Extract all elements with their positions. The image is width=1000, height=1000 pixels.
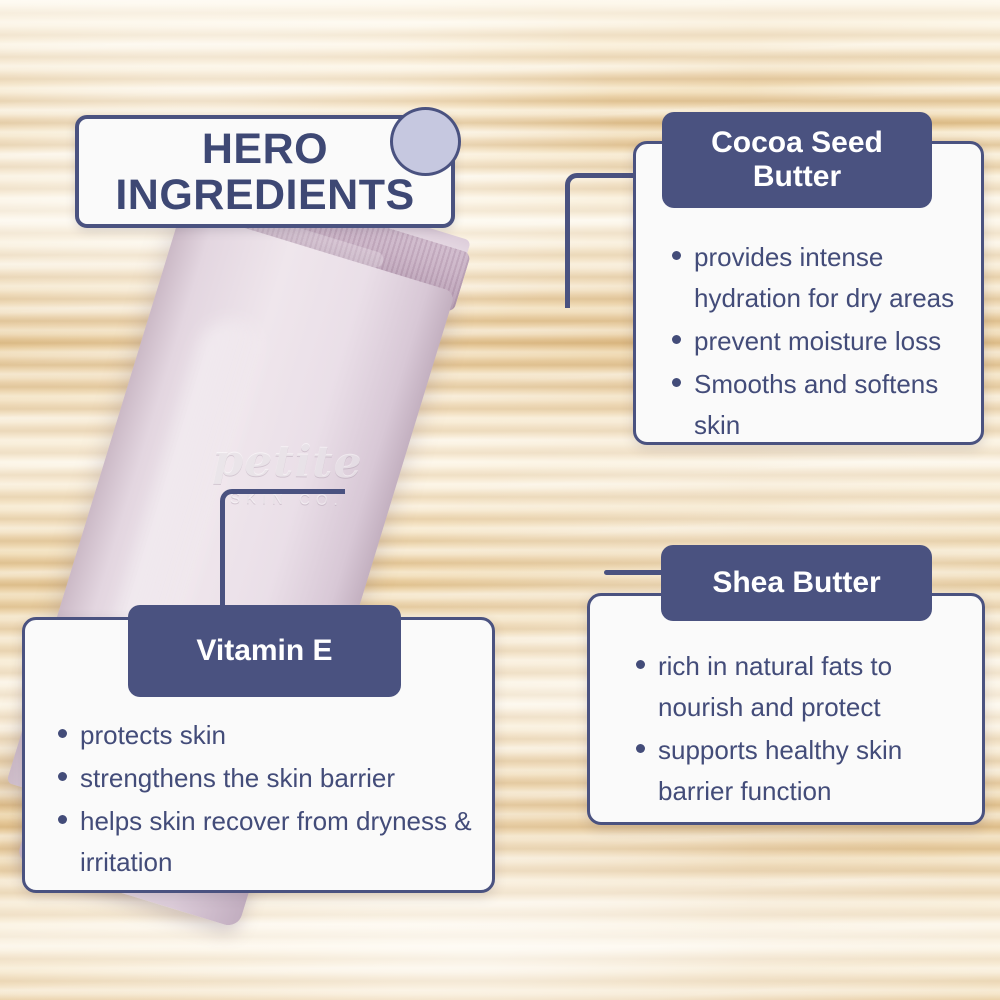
list-item-text: strengthens the skin barrier (80, 763, 395, 793)
bullet-icon (672, 251, 681, 260)
bullet-icon (672, 378, 681, 387)
bullet-icon (636, 744, 645, 753)
bullet-icon (672, 335, 681, 344)
list-item-text: rich in natural fats to nourish and prot… (658, 651, 892, 722)
bullet-icon (58, 772, 67, 781)
list-item: strengthens the skin barrier (50, 758, 510, 799)
ingredient-benefits-list-shea: rich in natural fats to nourish and prot… (628, 646, 983, 814)
connector-vitamin-e-elbow (220, 489, 345, 617)
list-item-text: provides intense hydration for dry areas (694, 242, 954, 313)
list-item: provides intense hydration for dry areas (664, 237, 986, 319)
list-item-text: prevent moisture loss (694, 326, 941, 356)
page-title: HERO INGREDIENTS (115, 126, 414, 218)
ingredient-benefits-list-cocoa: provides intense hydration for dry areas… (664, 237, 986, 448)
ingredient-card-shea-butter: rich in natural fats to nourish and prot… (587, 593, 985, 825)
bullet-icon (58, 729, 67, 738)
ingredient-title-cocoa-seed-butter: Cocoa Seed Butter (662, 112, 932, 208)
ingredient-title-shea-butter: Shea Butter (661, 545, 932, 621)
infographic-canvas: cream to nourish dry skin petite SKIN CO… (0, 0, 1000, 1000)
list-item: Smooths and softens skin (664, 364, 986, 446)
ingredient-title-vitamin-e: Vitamin E (128, 605, 401, 697)
connector-shea-stub (604, 570, 666, 575)
list-item-text: protects skin (80, 720, 226, 750)
list-item: prevent moisture loss (664, 321, 986, 362)
list-item-text: helps skin recover from dryness & irrita… (80, 806, 472, 877)
connector-cocoa-elbow (565, 173, 633, 308)
list-item: rich in natural fats to nourish and prot… (628, 646, 983, 728)
accent-circle-decoration (390, 107, 461, 176)
bullet-icon (58, 815, 67, 824)
list-item-text: Smooths and softens skin (694, 369, 938, 440)
list-item: helps skin recover from dryness & irrita… (50, 801, 510, 883)
list-item: protects skin (50, 715, 510, 756)
ingredient-benefits-list-vitamin-e: protects skin strengthens the skin barri… (50, 715, 510, 885)
bullet-icon (636, 660, 645, 669)
list-item-text: supports healthy skin barrier function (658, 735, 902, 806)
list-item: supports healthy skin barrier function (628, 730, 983, 812)
